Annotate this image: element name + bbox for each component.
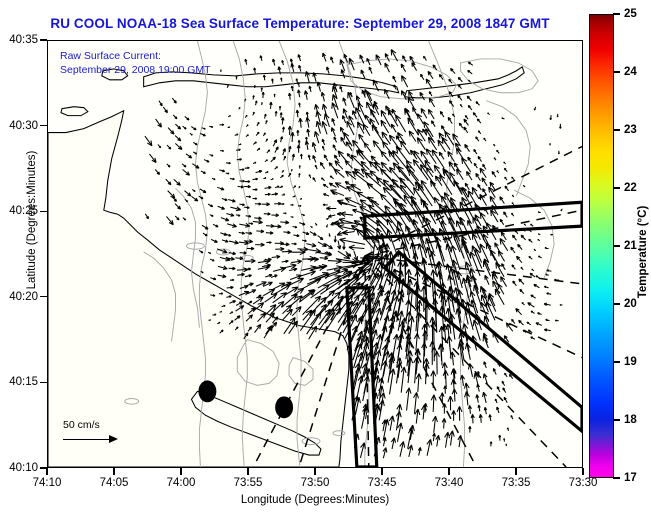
colorbar-tick-label: 24: [624, 66, 637, 78]
x-axis-tick-label: 74:00: [167, 477, 196, 489]
station-marker: [275, 396, 293, 418]
map-canvas: [48, 41, 582, 467]
x-axis-tick: [381, 468, 382, 475]
colorbar-tick-label: 20: [624, 298, 637, 310]
x-axis-tick: [582, 468, 583, 475]
colorbar-label: Temperature (°C): [637, 132, 649, 372]
current-vector-arrow: [557, 114, 558, 117]
x-axis-tick-label: 74:10: [33, 477, 62, 489]
x-axis-tick: [247, 468, 248, 475]
current-vector-arrow: [555, 320, 558, 321]
current-vector-arrow: [254, 85, 255, 88]
current-vector-arrow: [550, 234, 553, 235]
x-axis-tick-label: 73:55: [234, 477, 263, 489]
y-axis-tick-label: 40:10: [0, 462, 38, 474]
right-arrow-icon: [63, 435, 119, 445]
y-axis-tick-label: 40:15: [0, 376, 38, 388]
sst-map-figure: RU COOL NOAA-18 Sea Surface Temperature:…: [0, 0, 651, 518]
y-axis-tick-label: 40:20: [0, 291, 38, 303]
x-axis-tick: [46, 468, 47, 475]
colorbar-tick-label: 25: [624, 8, 637, 20]
current-vector-arrow: [560, 304, 563, 305]
x-axis-tick: [314, 468, 315, 475]
colorbar-tick: [613, 303, 620, 304]
colorbar-tick: [613, 13, 620, 14]
x-axis-tick: [113, 468, 114, 475]
colorbar-tick-label: 22: [624, 182, 637, 194]
colorbar-tick: [613, 245, 620, 246]
y-axis-tick: [40, 211, 47, 212]
annotation-line-1: Raw Surface Current:: [60, 49, 211, 63]
x-axis-tick: [448, 468, 449, 475]
current-vector-arrow: [274, 94, 275, 97]
colorbar-tick-label: 18: [624, 414, 637, 426]
x-axis-tick: [515, 468, 516, 475]
current-vector-arrow: [208, 320, 210, 321]
x-axis-tick-label: 73:50: [301, 477, 330, 489]
y-axis-tick: [40, 296, 47, 297]
current-vector-arrow: [283, 213, 286, 214]
x-axis-tick-label: 74:05: [100, 477, 129, 489]
colorbar-tick-label: 21: [624, 240, 637, 252]
current-vector-arrow: [298, 205, 301, 206]
vector-scale-legend: 50 cm/s: [63, 419, 119, 445]
colorbar-tick: [613, 477, 620, 478]
y-axis-tick-label: 40:25: [0, 205, 38, 217]
figure-title: RU COOL NOAA-18 Sea Surface Temperature:…: [0, 16, 600, 31]
station-marker: [198, 380, 216, 402]
y-axis-label: Latitude (Degrees:Minutes): [26, 100, 38, 340]
annotation-line-2: September 29, 2008 19:00 GMT: [60, 63, 211, 77]
y-axis-tick-label: 40:35: [0, 34, 38, 46]
colorbar-tick-label: 23: [624, 124, 637, 136]
x-axis-tick-label: 73:45: [368, 477, 397, 489]
current-vector-arrow: [236, 76, 237, 79]
colorbar-tick-label: 17: [624, 472, 637, 484]
colorbar-tick: [613, 187, 620, 188]
current-vector-arrow: [262, 102, 263, 105]
colorbar-tick: [613, 129, 620, 130]
x-axis-tick-label: 73:30: [569, 477, 598, 489]
current-vector-arrow: [300, 199, 302, 200]
colorbar-tick: [613, 361, 620, 362]
current-vector-arrow: [558, 151, 559, 154]
colorbar-tick: [613, 419, 620, 420]
y-axis-tick: [40, 125, 47, 126]
current-vector-arrow: [550, 143, 551, 145]
y-axis-tick: [40, 382, 47, 383]
x-axis-tick-label: 73:35: [502, 477, 531, 489]
colorbar-tick-label: 19: [624, 356, 637, 368]
current-vector-arrow: [506, 444, 507, 446]
colorbar-tick: [613, 71, 620, 72]
map-plot-area: Raw Surface Current: September 29, 2008 …: [47, 40, 583, 468]
temperature-colorbar: [589, 14, 614, 478]
current-vector-arrow: [290, 204, 293, 205]
current-vector-arrow: [228, 127, 230, 128]
current-vector-arrow: [299, 165, 300, 168]
x-axis-tick-label: 73:40: [435, 477, 464, 489]
y-axis-tick: [40, 39, 47, 40]
current-vector-arrow: [220, 70, 221, 72]
scale-legend-label: 50 cm/s: [63, 419, 119, 431]
raw-surface-current-annotation: Raw Surface Current: September 29, 2008 …: [60, 49, 211, 77]
y-axis-tick-label: 40:30: [0, 120, 38, 132]
x-axis-label: Longitude (Degrees:Minutes): [47, 494, 583, 506]
x-axis-tick: [180, 468, 181, 475]
